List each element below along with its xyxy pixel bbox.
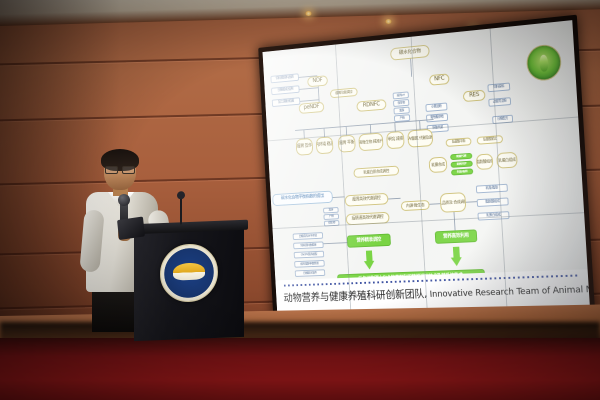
- flow-node-amino-ratio: 氨基酸配比: [477, 135, 503, 145]
- connector: [466, 201, 477, 202]
- flow-green-1: 营养高效利用: [435, 229, 478, 243]
- flow-input-2: 加工调制·粒度: [272, 97, 301, 107]
- red-carpet-floor: [0, 338, 600, 400]
- university-green-emblem: [526, 43, 563, 82]
- flow-right-0: 饲料原料: [487, 83, 510, 93]
- flow-cluster-0: 乳腺合成: [429, 157, 448, 174]
- flow-midright-0: 小肠淀粉: [425, 102, 447, 111]
- connector: [300, 99, 318, 101]
- flow-green-0: 营养精准调控: [347, 234, 391, 248]
- green-arrow-head: [364, 261, 375, 270]
- flow-cluster-1: 能量代谢: [450, 153, 472, 160]
- flow-node-protein: 乳蛋白质合成调控: [353, 166, 399, 178]
- flow-binput-0: 日粮营养水平评定: [293, 232, 324, 240]
- podium: [134, 220, 244, 344]
- flow-node-milk: 乳品质及 合成调控: [440, 192, 467, 213]
- flow-cluster-4: 脂肪酸组成: [476, 153, 494, 170]
- flow-row-5: VFA/氨氮 代谢及调控: [407, 129, 433, 148]
- flow-node-amino-level: 氨基酸平衡: [446, 137, 472, 147]
- flow-node-pendf: peNDF: [299, 102, 325, 114]
- connector: [454, 212, 456, 230]
- flow-row-1: 内环境 稳态: [316, 136, 334, 154]
- flow-binput-2: CNCPS营养模型: [294, 251, 325, 259]
- ceiling-spotlight: [385, 19, 392, 24]
- connector: [323, 242, 347, 244]
- photo-scene: 碳水化合物 NDF peNDF RDNFC NFC RES 饲料粗饲料品质 日粮…: [0, 0, 600, 400]
- flow-input-0: 饲料粗饲料品质: [270, 73, 299, 83]
- flow-binput-4: 日粮配方软件: [295, 269, 326, 277]
- connector: [429, 203, 440, 204]
- flow-small-0: 发酵: [323, 207, 339, 213]
- gooseneck-microphone: [180, 196, 182, 224]
- flow-midright-1: 葡萄糖供给: [426, 113, 448, 122]
- flow-cluster-2: 能氮同步: [451, 161, 473, 168]
- screen-bezel: 碳水化合物 NDF peNDF RDNFC NFC RES 饲料粗饲料品质 日粮…: [258, 15, 595, 322]
- flow-cluster-3: 乳脂·脂肪: [451, 168, 473, 175]
- flow-node-res: RES: [463, 90, 486, 103]
- ceiling-spotlight: [305, 11, 312, 16]
- connector: [388, 198, 400, 199]
- laptop: [117, 216, 145, 240]
- flow-small-1: 产物: [323, 214, 339, 220]
- flow-row-3: 瘤胃微生物 精准代谢: [358, 133, 383, 152]
- banner-text-cn: 动物营养与健康养殖科研创新团队,: [283, 287, 427, 304]
- flow-node-metabolic-0: 瘤胃高效代谢调控: [345, 193, 389, 207]
- flow-row-4: 甲烷 减排: [386, 131, 405, 149]
- screen-surface[interactable]: 碳水化合物 NDF peNDF RDNFC NFC RES 饲料粗饲料品质 日粮…: [263, 20, 591, 317]
- glasses-icon: [105, 166, 135, 172]
- flow-node-summary: 碳水化合物平衡指数的提出: [272, 191, 333, 207]
- flow-node-nfc: NFC: [429, 73, 449, 85]
- flow-right-1: 过瘤胃淀粉: [488, 97, 511, 107]
- flow-node-rdnfc: RDNFC: [356, 99, 386, 112]
- flow-input-1: 日粮组成·结构: [271, 85, 300, 95]
- microphone-head: [118, 194, 130, 206]
- flow-quality-1: 脂肪酸组成: [477, 197, 509, 207]
- flow-node-rumen-control: 瘤胃功能调控: [330, 87, 358, 98]
- flow-row-0: 瘤胃 互作: [296, 138, 314, 156]
- flow-node-centre: 内源·微生态: [401, 200, 430, 211]
- connector: [299, 87, 317, 89]
- flow-cluster-5: 乳蛋白组成: [496, 152, 518, 169]
- presentation-slide: 碳水化合物 NDF peNDF RDNFC NFC RES 饲料粗饲料品质 日粮…: [263, 20, 591, 317]
- video-wall[interactable]: 碳水化合物 NDF peNDF RDNFC NFC RES 饲料粗饲料品质 日粮…: [258, 15, 595, 322]
- flow-binput-1: 饲料原料数据库: [293, 241, 324, 249]
- green-arrow-head: [451, 257, 462, 266]
- banner-text-en: Innovative Research Team of Animal Nutri…: [429, 280, 590, 300]
- flow-binput-3: 瘤胃发酵参数预测: [294, 260, 325, 268]
- flow-quality-0: 乳脂·脂肪: [476, 184, 508, 194]
